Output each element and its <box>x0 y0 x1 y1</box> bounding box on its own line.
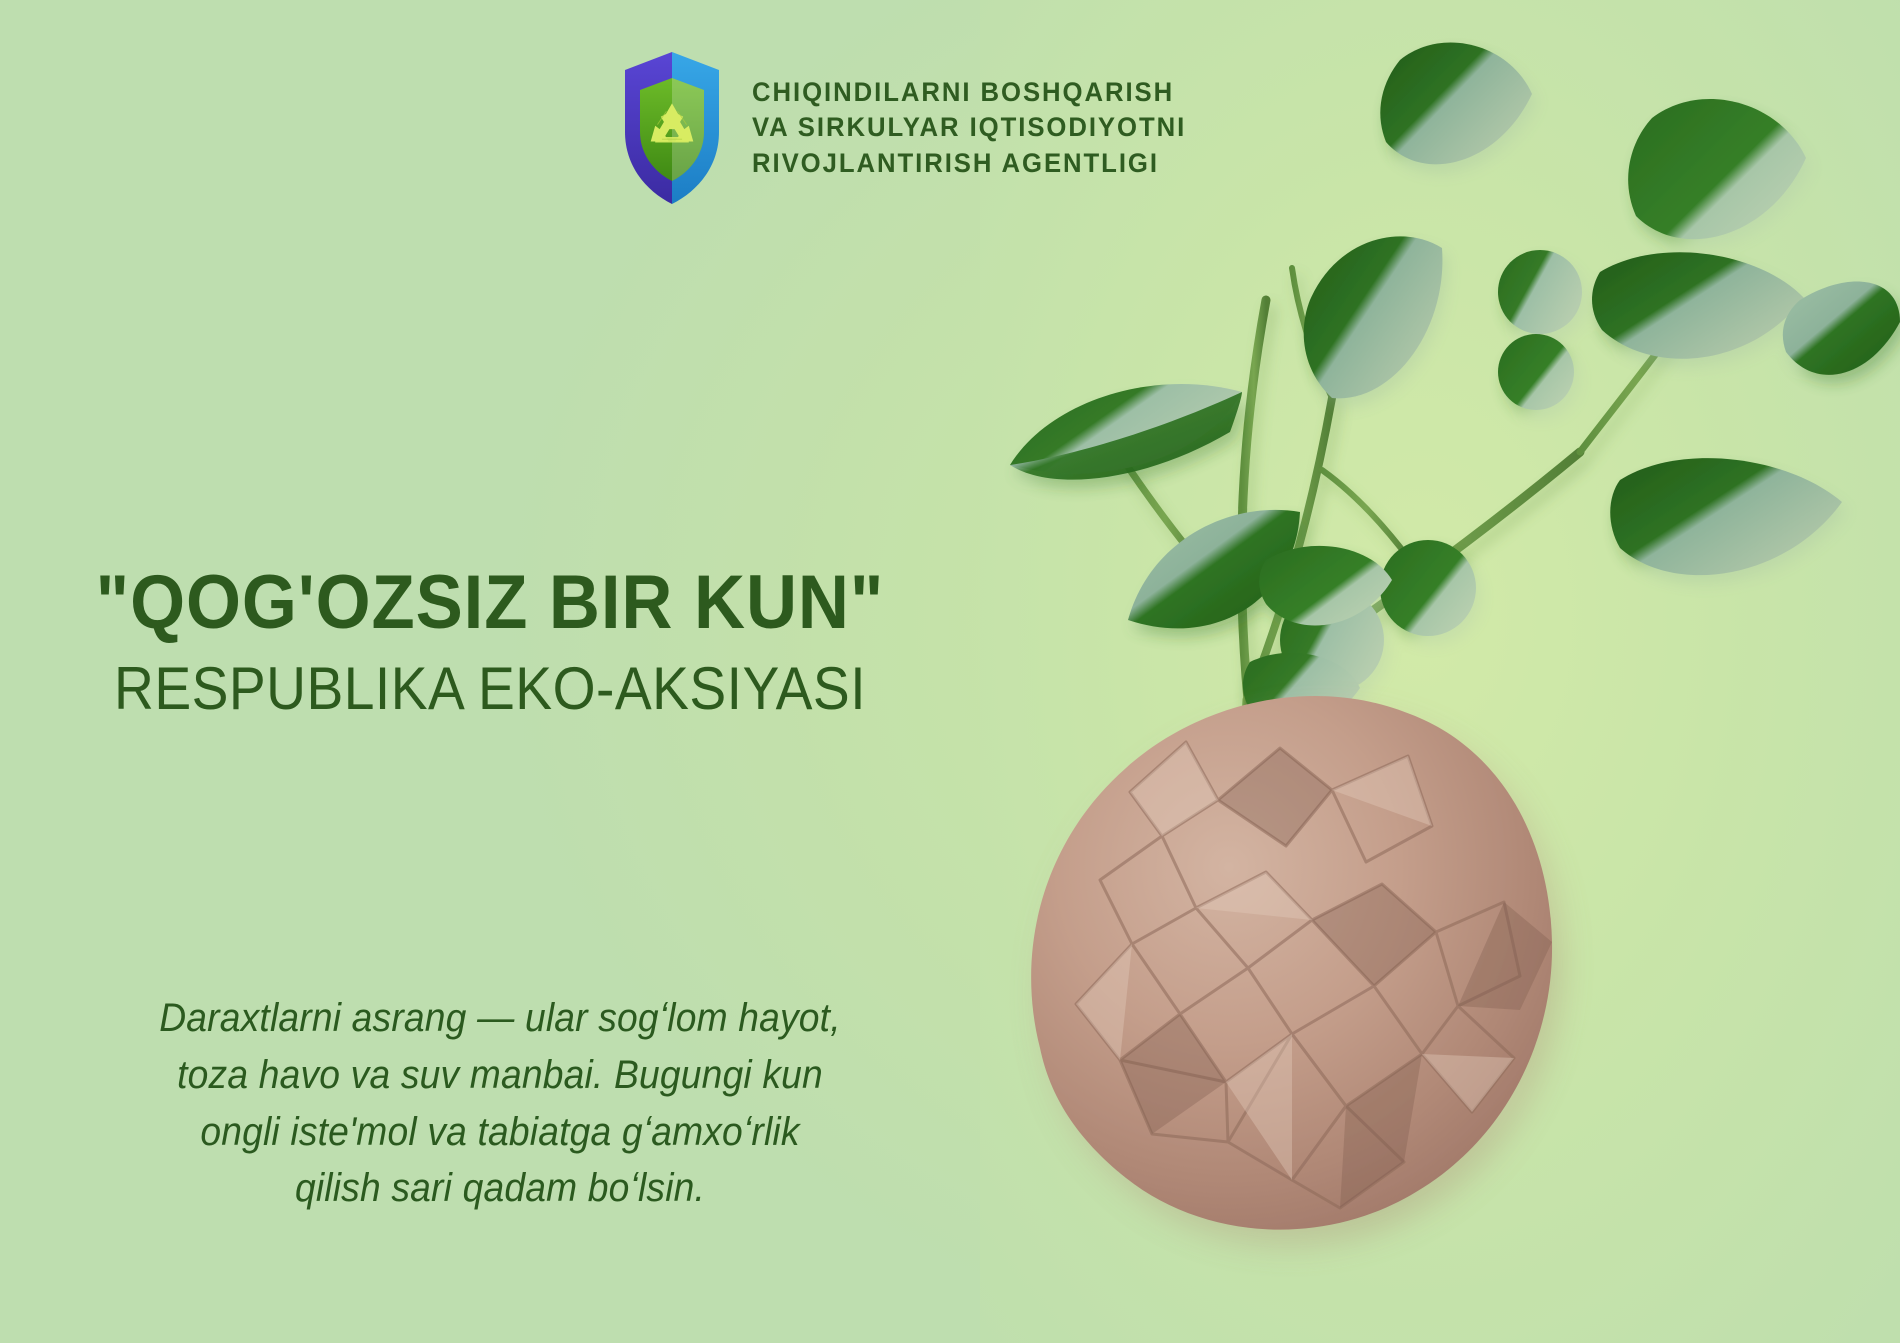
campaign-subtitle: RESPUBLIKA EKO-AKSIYASI <box>39 655 941 722</box>
eco-campaign-poster: CHIQINDILARNI BOSHQARISH VA SIRKULYAR IQ… <box>0 0 1900 1343</box>
shield-recycle-icon <box>620 48 724 208</box>
campaign-description: Daraxtlarni asrang — ular sogʻlom hayot,… <box>54 990 947 1217</box>
body-block: Daraxtlarni asrang — ular sogʻlom hayot,… <box>20 990 980 1217</box>
agency-logo-block: CHIQINDILARNI BOSHQARISH VA SIRKULYAR IQ… <box>620 48 1200 208</box>
campaign-title: "QOG'OZSIZ BIR KUN" <box>34 565 945 641</box>
headline-block: "QOG'OZSIZ BIR KUN" RESPUBLIKA EKO-AKSIY… <box>0 565 980 722</box>
agency-name: CHIQINDILARNI BOSHQARISH VA SIRKULYAR IQ… <box>752 75 1186 181</box>
